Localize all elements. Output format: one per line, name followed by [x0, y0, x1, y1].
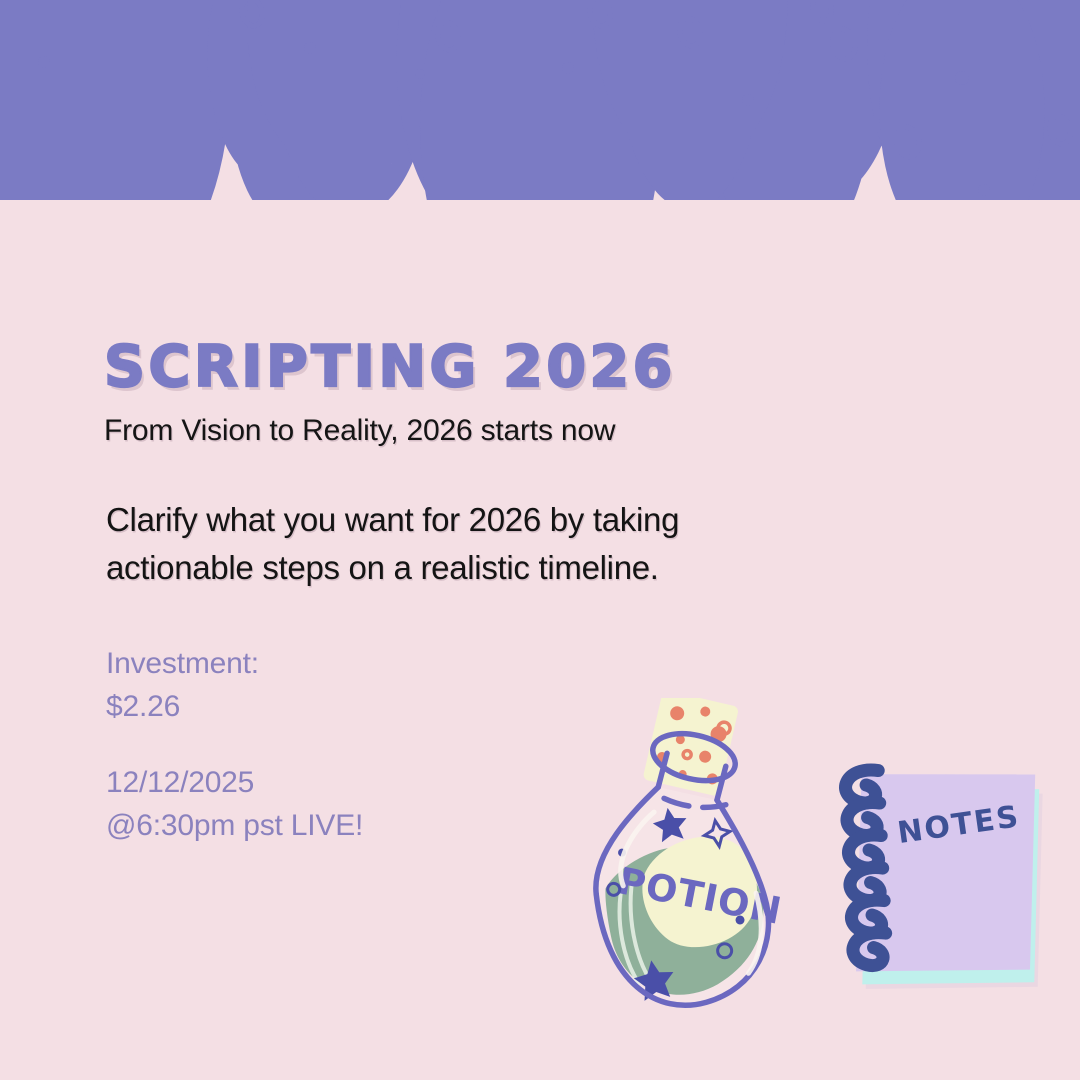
ring-icon — [435, 20, 461, 52]
ring-icon — [894, 125, 923, 159]
spiral-notebook-illustration: NOTES — [808, 736, 1070, 1018]
sparkle-outline-icon — [760, 0, 820, 96]
sparkle-outline-icon — [712, 32, 760, 124]
sparkle-outline-icon — [50, 2, 126, 154]
sparkle-outline-icon — [664, 0, 716, 56]
sparkle-icon — [378, 0, 418, 36]
sparkle-outline-icon — [268, 9, 312, 101]
dot-icon — [415, 69, 425, 79]
dot-icon — [38, 56, 50, 68]
sparkle-icon — [0, 0, 60, 96]
ring-icon — [587, 0, 613, 28]
sparkle-icon — [572, 0, 632, 132]
poster-canvas: Scripting 2026 From Vision to Reality, 2… — [0, 0, 1080, 1080]
sparkle-icon — [1042, 0, 1080, 60]
sparkle-outline-icon — [490, 0, 558, 126]
investment-label: Investment: — [106, 643, 864, 686]
ring-icon — [830, 27, 859, 61]
dot-icon — [955, 71, 969, 85]
subtitle: From Vision to Reality, 2026 starts now — [104, 414, 864, 448]
sparkle-icon — [196, 0, 276, 82]
sparkle-icon — [442, 10, 490, 130]
potion-bottle-illustration: POTION — [560, 698, 810, 1028]
sparkle-outline-icon — [508, 56, 572, 196]
ring-icon — [677, 16, 703, 48]
ring-icon — [1047, 114, 1073, 146]
sparkle-outline-icon — [966, 0, 1038, 116]
sparkle-outline-icon — [324, 0, 380, 74]
page-title: Scripting 2026 — [104, 338, 864, 396]
dot-icon — [978, 184, 990, 196]
dot-icon — [304, 42, 316, 54]
sparkle-icon — [880, 0, 956, 80]
sparkle-outline-icon — [940, 62, 984, 158]
dot-icon — [562, 62, 574, 74]
dot-icon — [742, 94, 754, 106]
sparkle-border — [0, 0, 1080, 200]
description-text: Clarify what you want for 2026 by taking… — [106, 496, 806, 591]
ring-icon — [810, 0, 834, 23]
ring-icon — [239, 0, 265, 28]
